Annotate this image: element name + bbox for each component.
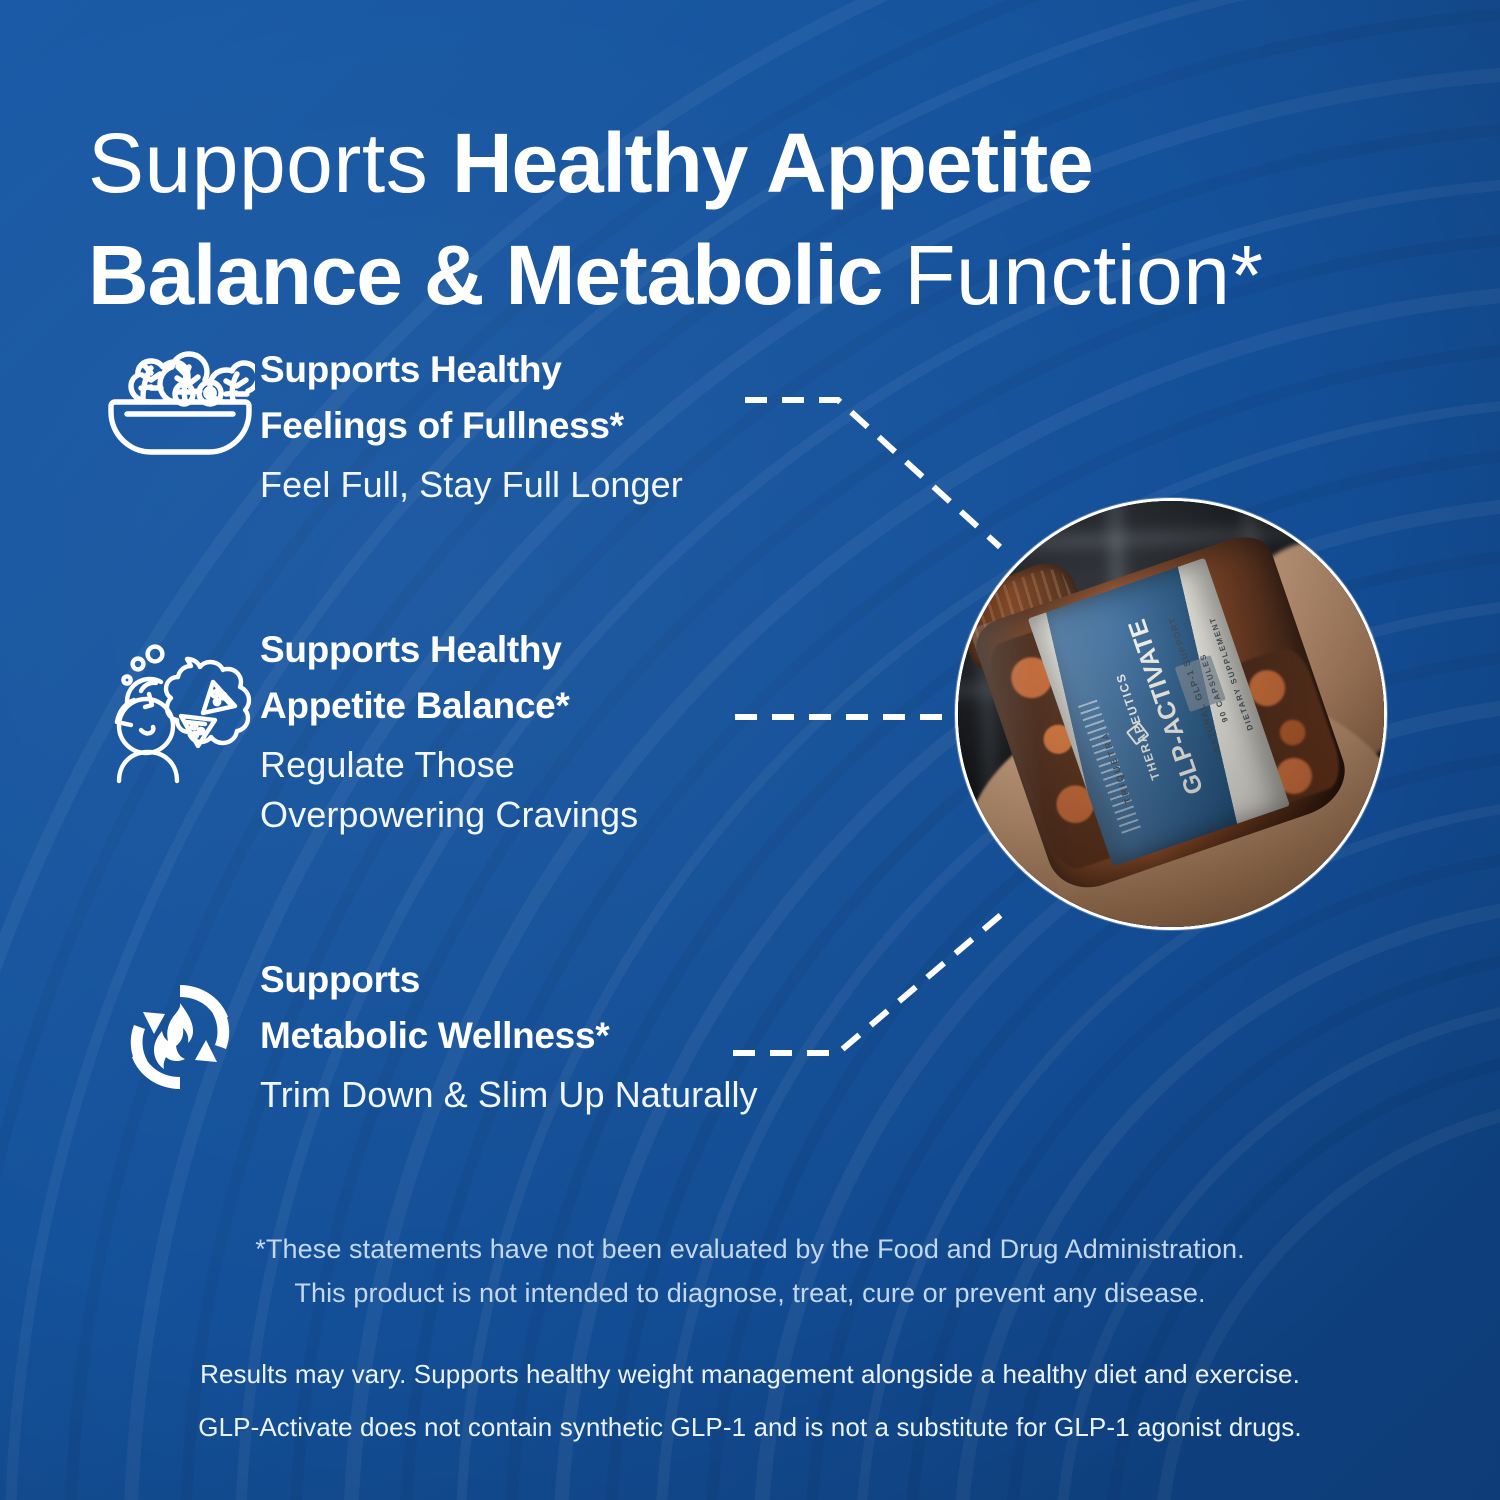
fda-disclaimer-line-1: *These statements have not been evaluate… xyxy=(0,1228,1500,1272)
salad-bowl-icon xyxy=(100,340,260,458)
feature-block-fullness: Supports Healthy Feelings of Fullness* F… xyxy=(100,340,683,510)
headline-line1-light: Supports xyxy=(88,116,452,210)
feature-title: Supports Healthy Feelings of Fullness* xyxy=(260,342,683,454)
connector-line-3 xyxy=(733,914,1002,1053)
fda-disclaimer-line-2: This product is not intended to diagnose… xyxy=(0,1272,1500,1316)
headline-line-1: Supports Healthy Appetite xyxy=(88,108,1428,220)
product-benefits-infographic: Supports Healthy Appetite Balance & Meta… xyxy=(0,0,1500,1500)
feature-block-appetite-balance: Supports Healthy Appetite Balance* Regul… xyxy=(100,620,638,840)
feature-subtitle: Feel Full, Stay Full Longer xyxy=(260,460,683,510)
product-photo: TRIQUETRA THERAPEUTICS GLP-ACTIVATE NATU… xyxy=(955,498,1387,930)
fda-disclaimer: *These statements have not been evaluate… xyxy=(0,1228,1500,1315)
headline-line1-bold: Healthy Appetite xyxy=(452,116,1092,210)
feature-block-metabolic-wellness: Supports Metabolic Wellness* Trim Down &… xyxy=(100,950,758,1120)
feature-text-group: Supports Metabolic Wellness* Trim Down &… xyxy=(260,950,758,1120)
feature-text-group: Supports Healthy Feelings of Fullness* F… xyxy=(260,340,683,510)
feature-subtitle: Trim Down & Slim Up Naturally xyxy=(260,1070,758,1120)
headline-line-2: Balance & Metabolic Function* xyxy=(88,220,1428,332)
feature-title: Supports Metabolic Wellness* xyxy=(260,952,758,1064)
footer-disclaimer: Results may vary. Supports healthy weigh… xyxy=(0,1348,1500,1455)
feature-title: Supports Healthy Appetite Balance* xyxy=(260,622,638,734)
footer-line-1: Results may vary. Supports healthy weigh… xyxy=(0,1348,1500,1401)
photo-scene: TRIQUETRA THERAPEUTICS GLP-ACTIVATE NATU… xyxy=(955,498,1387,930)
feature-subtitle: Regulate Those Overpowering Cravings xyxy=(260,740,638,839)
page-title: Supports Healthy Appetite Balance & Meta… xyxy=(88,108,1428,331)
headline-line2-light: Function* xyxy=(904,228,1263,322)
metabolism-flame-cycle-icon xyxy=(100,950,260,1098)
feature-text-group: Supports Healthy Appetite Balance* Regul… xyxy=(260,620,638,840)
footer-line-2: GLP-Activate does not contain synthetic … xyxy=(0,1401,1500,1454)
head-craving-pizza-icon xyxy=(100,620,260,786)
headline-line2-bold: Balance & Metabolic xyxy=(88,228,904,322)
